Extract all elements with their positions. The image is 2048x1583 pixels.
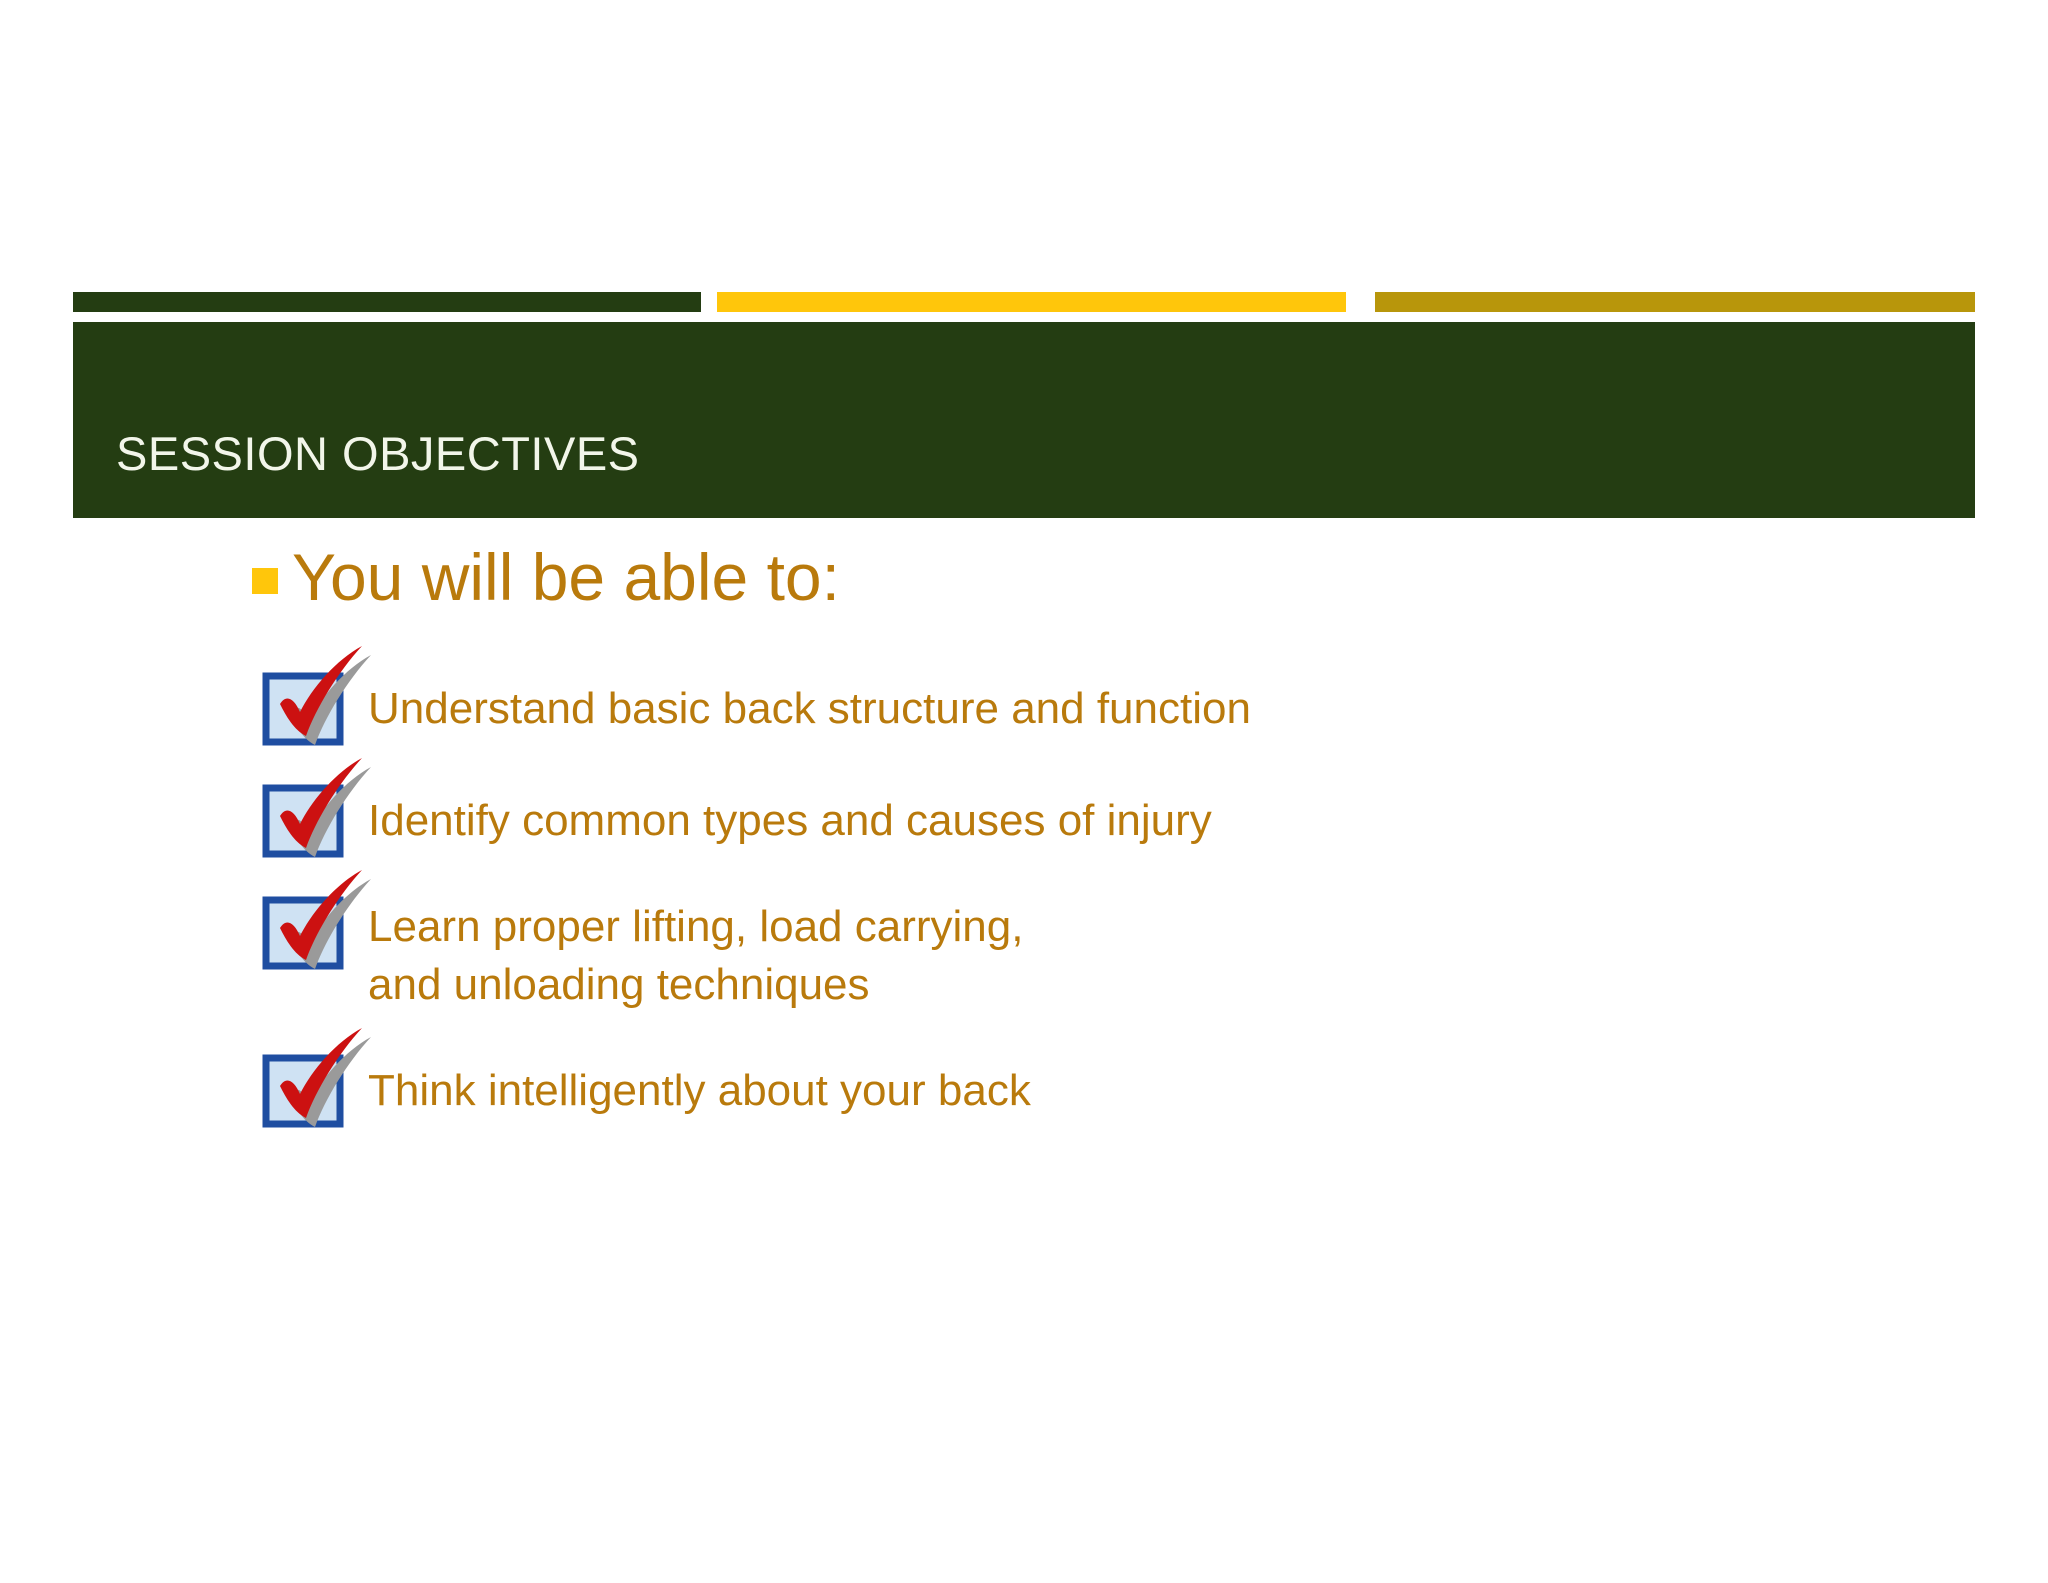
page-title: SESSION OBJECTIVES	[116, 426, 640, 481]
checkbox-checked-icon	[250, 658, 354, 750]
accent-bar-yellow	[717, 292, 1346, 312]
list-item-label: Understand basic back structure and func…	[368, 658, 1251, 738]
objectives-list: Understand basic back structure and func…	[250, 658, 1750, 1152]
list-item-label: Learn proper lifting, load carrying, and…	[368, 882, 1023, 1014]
accent-bar-gold	[1375, 292, 1975, 312]
slide-canvas: SESSION OBJECTIVES You will be able to: …	[0, 0, 2048, 1583]
list-item-label: Think intelligently about your back	[368, 1040, 1031, 1120]
accent-bar-green	[73, 292, 701, 312]
checkbox-checked-icon	[250, 1040, 354, 1132]
checkbox-checked-icon	[250, 770, 354, 862]
list-item: Understand basic back structure and func…	[250, 658, 1750, 750]
lead-in-text: You will be able to:	[292, 540, 840, 614]
list-item: Identify common types and causes of inju…	[250, 770, 1750, 862]
title-banner: SESSION OBJECTIVES	[73, 322, 1975, 518]
checkbox-checked-icon	[250, 882, 354, 974]
lead-in-row: You will be able to:	[252, 540, 840, 614]
square-bullet-icon	[252, 568, 278, 594]
list-item: Learn proper lifting, load carrying, and…	[250, 882, 1750, 1014]
list-item-label: Identify common types and causes of inju…	[368, 770, 1212, 850]
list-item: Think intelligently about your back	[250, 1040, 1750, 1132]
